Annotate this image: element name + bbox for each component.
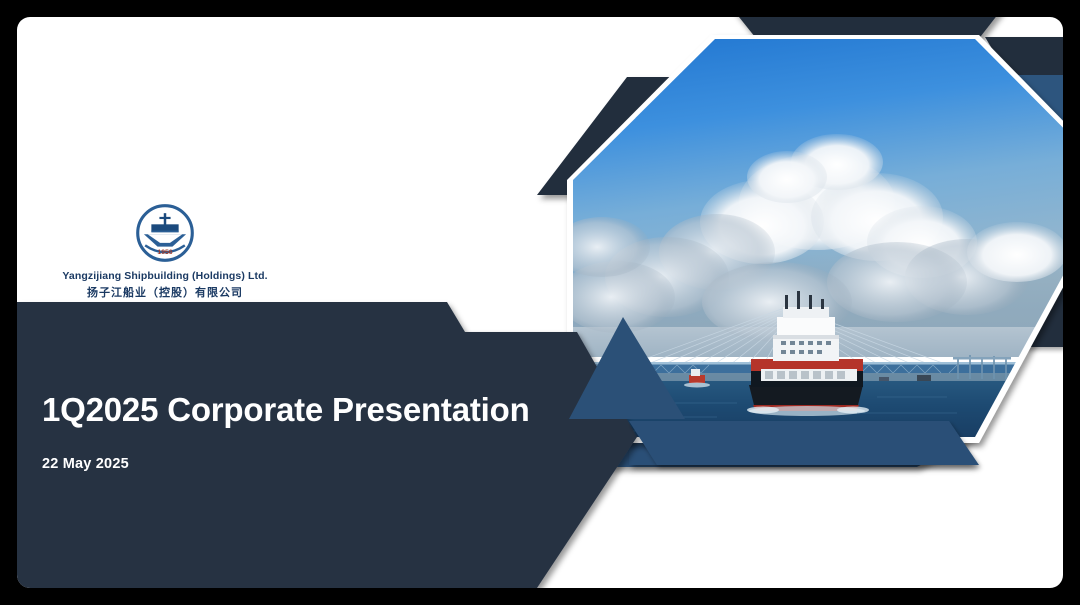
logo-year: 1956 (157, 249, 172, 256)
presentation-slide: 1956 Yangzijiang Shipbuilding (Holdings)… (17, 17, 1063, 588)
company-name-en: Yangzijiang Shipbuilding (Holdings) Ltd. (50, 270, 280, 282)
screenshot-canvas: 1956 Yangzijiang Shipbuilding (Holdings)… (0, 0, 1080, 605)
slide-date: 22 May 2025 (42, 456, 602, 472)
company-name-cn: 扬子江船业（控股）有限公司 (50, 284, 280, 300)
yangzijiang-logo-icon: 1956 (134, 202, 196, 264)
navy-wedge-bottom (629, 421, 979, 465)
company-logo: 1956 Yangzijiang Shipbuilding (Holdings)… (50, 202, 280, 312)
title-block: 1Q2025 Corporate Presentation 22 May 202… (42, 392, 602, 472)
slide-title: 1Q2025 Corporate Presentation (42, 392, 602, 428)
